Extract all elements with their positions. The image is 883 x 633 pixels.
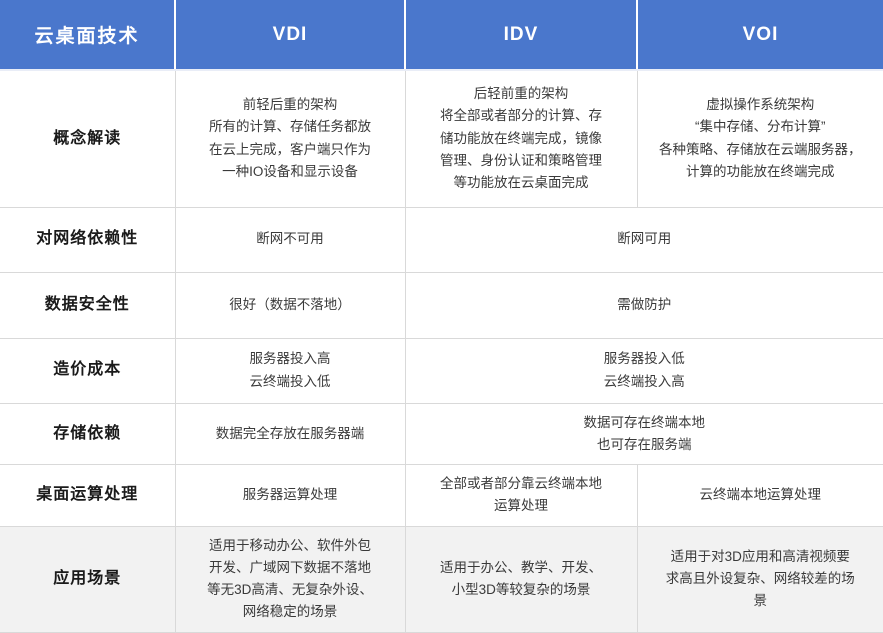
row-label-cost: 造价成本 bbox=[0, 338, 175, 403]
table-row: 桌面运算处理 服务器运算处理 全部或者部分靠云终端本地 运算处理 云终端本地运算… bbox=[0, 465, 883, 527]
table-row: 应用场景 适用于移动办公、软件外包 开发、广域网下数据不落地 等无3D高清、无复… bbox=[0, 526, 883, 632]
cell-concept-voi: 虚拟操作系统架构 “集中存储、分布计算” 各种策略、存储放在云端服务器， 计算的… bbox=[637, 70, 883, 207]
row-label-network-dependency: 对网络依赖性 bbox=[0, 207, 175, 272]
table-row: 存储依赖 数据完全存放在服务器端 数据可存在终端本地 也可存在服务端 bbox=[0, 403, 883, 465]
cell-concept-vdi: 前轻后重的架构 所有的计算、存储任务都放 在云上完成，客户端只作为 一种IO设备… bbox=[175, 70, 405, 207]
cell-usecase-idv: 适用于办公、教学、开发、 小型3D等较复杂的场景 bbox=[405, 526, 637, 632]
header-cell-vdi: VDI bbox=[175, 0, 405, 70]
cloud-desktop-comparison-table: 云桌面技术 VDI IDV VOI 概念解读 前轻后重的架构 所有的计算、存储任… bbox=[0, 0, 883, 633]
table-row: 数据安全性 很好（数据不落地） 需做防护 bbox=[0, 272, 883, 338]
header-cell-label: 云桌面技术 bbox=[0, 0, 175, 70]
cell-cost-vdi: 服务器投入高 云终端投入低 bbox=[175, 338, 405, 403]
header-row: 云桌面技术 VDI IDV VOI bbox=[0, 0, 883, 70]
table-row: 概念解读 前轻后重的架构 所有的计算、存储任务都放 在云上完成，客户端只作为 一… bbox=[0, 70, 883, 207]
header-cell-idv: IDV bbox=[405, 0, 637, 70]
cell-compute-vdi: 服务器运算处理 bbox=[175, 465, 405, 527]
cell-network-idv-voi: 断网可用 bbox=[405, 207, 883, 272]
cell-security-vdi: 很好（数据不落地） bbox=[175, 272, 405, 338]
row-label-concept: 概念解读 bbox=[0, 70, 175, 207]
cell-network-vdi: 断网不可用 bbox=[175, 207, 405, 272]
cell-usecase-voi: 适用于对3D应用和高清视频要 求高且外设复杂、网络较差的场 景 bbox=[637, 526, 883, 632]
row-label-use-cases: 应用场景 bbox=[0, 526, 175, 632]
row-label-desktop-compute: 桌面运算处理 bbox=[0, 465, 175, 527]
comparison-table-container: 云桌面技术 VDI IDV VOI 概念解读 前轻后重的架构 所有的计算、存储任… bbox=[0, 0, 883, 611]
table-header: 云桌面技术 VDI IDV VOI bbox=[0, 0, 883, 70]
cell-compute-idv: 全部或者部分靠云终端本地 运算处理 bbox=[405, 465, 637, 527]
table-row: 对网络依赖性 断网不可用 断网可用 bbox=[0, 207, 883, 272]
cell-usecase-vdi: 适用于移动办公、软件外包 开发、广域网下数据不落地 等无3D高清、无复杂外设、 … bbox=[175, 526, 405, 632]
table-row: 造价成本 服务器投入高 云终端投入低 服务器投入低 云终端投入高 bbox=[0, 338, 883, 403]
cell-concept-idv: 后轻前重的架构 将全部或者部分的计算、存 储功能放在终端完成，镜像 管理、身份认… bbox=[405, 70, 637, 207]
row-label-storage-dependency: 存储依赖 bbox=[0, 403, 175, 465]
cell-security-idv-voi: 需做防护 bbox=[405, 272, 883, 338]
cell-compute-voi: 云终端本地运算处理 bbox=[637, 465, 883, 527]
table-body: 概念解读 前轻后重的架构 所有的计算、存储任务都放 在云上完成，客户端只作为 一… bbox=[0, 70, 883, 632]
row-label-data-security: 数据安全性 bbox=[0, 272, 175, 338]
header-cell-voi: VOI bbox=[637, 0, 883, 70]
cell-storage-idv-voi: 数据可存在终端本地 也可存在服务端 bbox=[405, 403, 883, 465]
cell-storage-vdi: 数据完全存放在服务器端 bbox=[175, 403, 405, 465]
cell-cost-idv-voi: 服务器投入低 云终端投入高 bbox=[405, 338, 883, 403]
